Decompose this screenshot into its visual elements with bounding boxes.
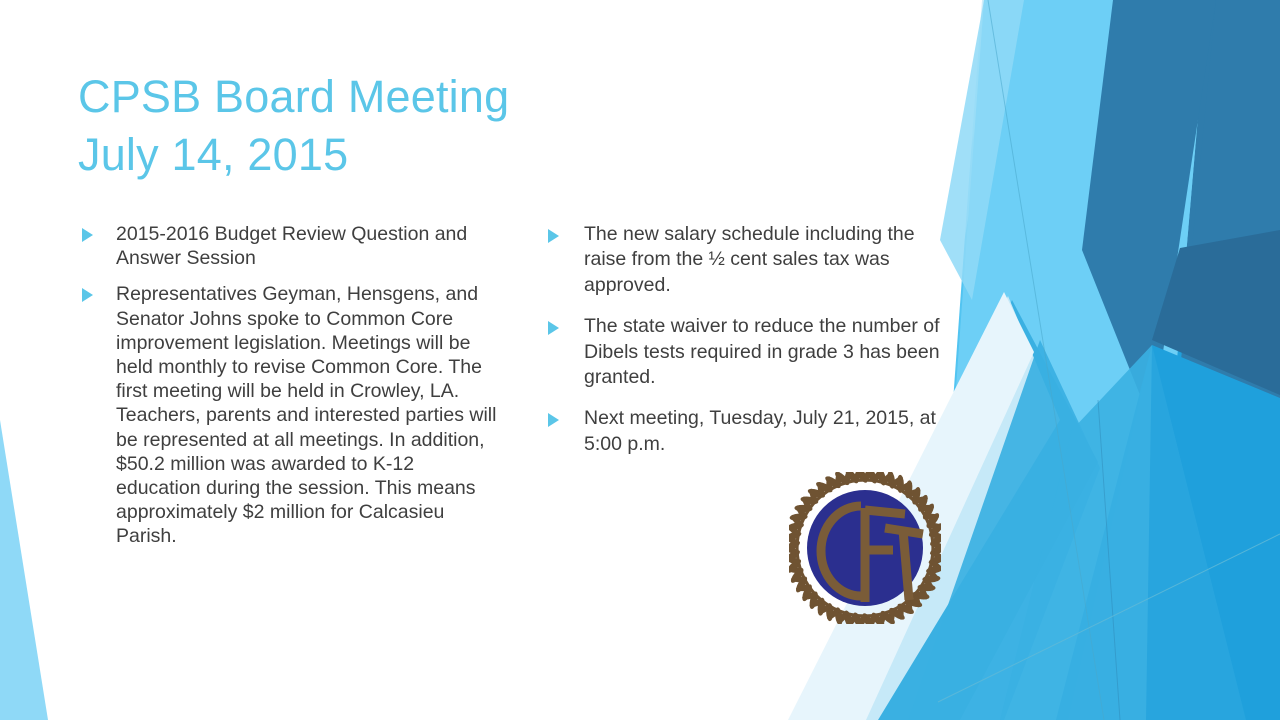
- slide-title: CPSB Board Meeting July 14, 2015: [78, 68, 798, 184]
- list-item-text: The state waiver to reduce the number of…: [584, 315, 940, 388]
- deco-shape-navy-mid: [1152, 240, 1280, 390]
- deco-shape-left-triangle: [0, 420, 48, 720]
- list-item: The state waiver to reduce the number of…: [540, 314, 952, 390]
- deco-shape-mid-center: [1000, 345, 1152, 720]
- deco-shape-sky-main-top: [932, 0, 1208, 720]
- deco-hairline-d: [988, 0, 1104, 720]
- list-item: The new salary schedule including the ra…: [540, 222, 952, 298]
- triangle-bullet-icon: [548, 321, 559, 335]
- list-item: Next meeting, Tuesday, July 21, 2015, at…: [540, 406, 952, 457]
- list-item-text: The new salary schedule including the ra…: [584, 223, 915, 296]
- list-item: 2015-2016 Budget Review Question and Ans…: [78, 222, 498, 270]
- triangle-bullet-icon: [548, 229, 559, 243]
- deco-hairline-f: [938, 534, 1280, 702]
- deco-shape-bright-bottom2: [1056, 345, 1280, 720]
- triangle-bullet-icon: [82, 288, 93, 302]
- title-line-1: CPSB Board Meeting: [78, 68, 798, 126]
- list-item-text: Representatives Geyman, Hensgens, and Se…: [116, 283, 496, 547]
- bullet-column-left: 2015-2016 Budget Review Question and Ans…: [78, 222, 498, 561]
- deco-shape-facet-bright2: [1068, 345, 1246, 720]
- deco-shape-steel-overlay: [1085, 0, 1216, 420]
- deco-hairline-c: [940, 535, 1280, 700]
- deco-shape-steel-overlay2: [1082, 0, 1216, 425]
- slide-canvas: CPSB Board Meeting July 14, 2015 2015-20…: [0, 0, 1280, 720]
- deco-hairline-b: [1100, 395, 1118, 720]
- list-item-text: Next meeting, Tuesday, July 21, 2015, at…: [584, 407, 936, 454]
- deco-shape-navy-mid2: [1152, 230, 1280, 395]
- triangle-bullet-icon: [82, 228, 93, 242]
- deco-shape-bright-bottom: [1040, 300, 1280, 720]
- deco-shape-bright-right: [1120, 290, 1280, 720]
- deco-hairline-e: [1098, 400, 1120, 720]
- deco-shape-sky-sliver-top: [940, 0, 1024, 300]
- deco-shape-steel-base: [1012, 0, 1280, 720]
- list-item-text: 2015-2016 Budget Review Question and Ans…: [116, 223, 467, 269]
- deco-shape-steel-far: [1146, 0, 1280, 720]
- cft-logo: [789, 472, 941, 624]
- deco-shape-facet-bright: [1062, 330, 1240, 720]
- triangle-bullet-icon: [548, 413, 559, 427]
- deco-shape-deep-right: [1196, 0, 1280, 430]
- bullet-column-right: The new salary schedule including the ra…: [540, 222, 952, 473]
- list-item: Representatives Geyman, Hensgens, and Se…: [78, 282, 498, 548]
- deco-hairline-a: [985, 0, 1100, 720]
- title-line-2: July 14, 2015: [78, 126, 798, 184]
